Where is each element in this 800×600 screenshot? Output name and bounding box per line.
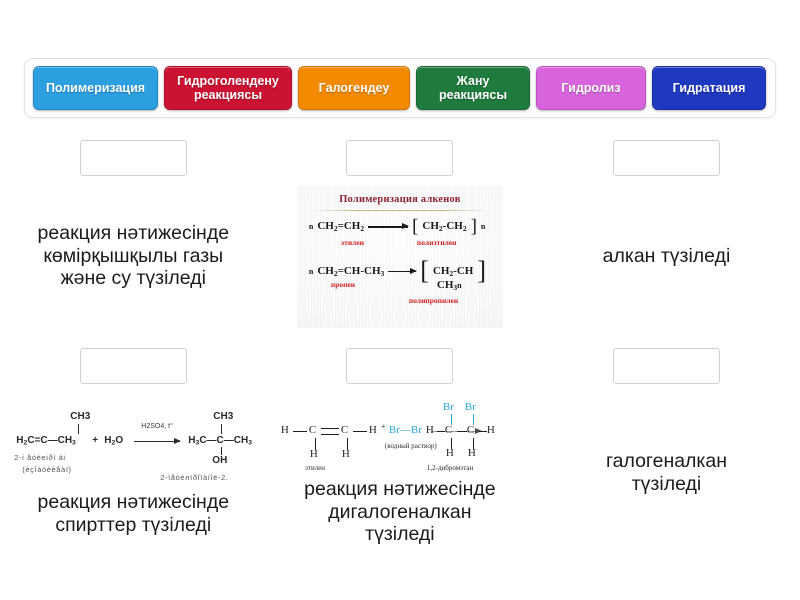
cell-content: CH3 H2C=C—CH3 + H2O H2SO4, t° CH3 H3C—C—… [0,384,267,560]
label-ethylene: этилен [305,464,325,472]
dropzone-2[interactable] [346,140,453,176]
figure-hydration-reaction: CH3 H2C=C—CH3 + H2O H2SO4, t° CH3 H3C—C—… [8,409,258,489]
atom-c: C [309,424,316,436]
atom-h: H [446,447,454,459]
polymer-index-n: n [481,222,485,231]
bracket-open-icon: [ [412,220,418,234]
bond-vertical-icon [473,414,474,425]
match-cell-haloalkane: галогеналкан түзіледі [533,334,800,560]
reaction-arrow-icon [134,441,180,442]
monomer-ethylene-formula: CH2=CH2 [317,220,364,233]
atom-h: H [487,424,495,436]
match-cell-alkane: алкан түзіледі [533,126,800,334]
tile-label: Гидролиз [561,81,620,95]
plus-sign-icon: + [92,435,98,446]
reactant-water: H2O [104,435,123,447]
atom-c: C [445,424,452,436]
product-branch-oh: OH [212,455,227,466]
dropzone-3[interactable] [613,140,720,176]
caption-reactant-line1: 2-і åóèеiðí àі [14,453,65,462]
match-cell-polymerization: Полимеризация алкенов n CH2=CH2 [ CH2-CH… [267,126,534,334]
draggable-tile-gidroliz[interactable]: Гидролиз [536,66,646,110]
reaction-arrow-icon [368,226,408,227]
item-text: реакция нәтижесінде спирттер түзіледі [38,491,230,537]
reaction-row-ethylene: n CH2=CH2 [ CH2-CH2 ] n [309,220,493,234]
reaction-condition: H2SO4, t° [141,423,173,430]
reagent-note: (водный раствор) [385,442,437,450]
tile-label: Гидроголендену реакциясы [174,74,282,102]
figure-title: Полимеризация алкенов [297,194,503,205]
figure-polymerization-alkenes: Полимеризация алкенов n CH2=CH2 [ CH2-CH… [297,186,503,328]
tile-label: Полимеризация [46,81,145,95]
atom-h: H [426,424,434,436]
reaction-arrow-icon [388,271,416,272]
label-polypropylene: полипропилен [409,296,458,305]
label-polyethylene: полиэтилен [417,238,457,247]
dropzone-1[interactable] [80,140,187,176]
monomer-propene-formula: CH2=CH-CH3 [317,265,384,278]
atom-br: Br [443,401,454,413]
caption-product: 2-ìåòèлïðîïàíîë-2. [160,473,228,482]
bracket-open-icon: [ [420,262,429,281]
match-cell-combustion: реакция нәтижесінде көмірқышқылы газы жә… [0,126,267,334]
polymer-polyethylene-formula: CH2-CH2 [422,220,466,233]
item-text: галогеналкан түзіледі [606,450,727,496]
draggable-tile-polimerizaciya[interactable]: Полимеризация [33,66,158,110]
item-text: реакция нәтижесінде көмірқышқылы газы жә… [38,222,230,290]
atom-h: H [342,448,350,460]
board-row: CH3 H2C=C—CH3 + H2O H2SO4, t° CH3 H3C—C—… [0,334,800,560]
plus-sign-icon: + [381,422,386,431]
dropzone-6[interactable] [613,348,720,384]
cell-content: галогеналкан түзіледі [533,384,800,560]
atom-h: H [369,424,377,436]
draggable-tile-zhanu[interactable]: Жану реакциясы [416,66,530,110]
reactant-branch-ch3: CH3 [70,411,90,422]
cell-content: реакция нәтижесінде көмірқышқылы газы жә… [0,176,267,334]
bond-horizontal-icon [479,431,487,432]
bond-horizontal-icon [353,431,367,432]
bond-horizontal-icon [457,431,467,432]
atom-h: H [468,447,476,459]
coefficient-n: n [309,267,313,276]
bond-vertical-icon [221,424,222,434]
bond-vertical-icon [451,414,452,425]
reaction-row-propene: n CH2=CH-CH3 [ CH2-CH ] [309,262,493,281]
draggable-tile-gidrogolendenu[interactable]: Гидроголендену реакциясы [164,66,292,110]
label-propene: пропен [331,280,355,289]
tile-label: Галогендеу [319,81,390,95]
match-up-activity: Полимеризация Гидроголендену реакциясы Г… [0,0,800,600]
figure-divider [311,210,489,211]
double-bond-icon [321,428,339,429]
reagent-bromine: Br—Br [389,424,422,436]
match-cell-halogenation: H C C H H H этилен + [267,334,534,560]
match-cell-hydration: CH3 H2C=C—CH3 + H2O H2SO4, t° CH3 H3C—C—… [0,334,267,560]
draggable-tile-gidrataciya[interactable]: Гидратация [652,66,766,110]
caption-reactant-line2: (èçîàóèèåàí) [22,465,71,474]
answer-tile-tray: Полимеризация Гидроголендену реакциясы Г… [24,58,776,118]
polypropylene-branch: CH3n [437,279,462,292]
atom-c: C [341,424,348,436]
board-row: реакция нәтижесінде көмірқышқылы газы жә… [0,126,800,334]
label-dibromoethane: 1,2-дибромэтан [427,464,473,472]
figure-halogenation-reaction: H C C H H H этилен + [281,400,519,476]
cell-content: алкан түзіледі [533,176,800,334]
reactant-isobutene: H2C=C—CH3 [16,435,76,447]
bond-horizontal-icon [293,431,307,432]
dropzone-4[interactable] [80,348,187,384]
match-board: реакция нәтижесінде көмірқышқылы газы жә… [0,126,800,596]
atom-c: C [467,424,474,436]
atom-br: Br [465,401,476,413]
bond-horizontal-icon [437,431,445,432]
bond-vertical-icon [221,447,222,455]
draggable-tile-galogendeu[interactable]: Галогендеу [298,66,410,110]
product-tert-butanol: H3C—C—CH3 [188,435,252,447]
double-bond-icon [321,434,339,435]
item-text: реакция нәтижесінде дигалогеналкан түзіл… [304,478,496,546]
tile-label: Жану реакциясы [426,74,520,102]
item-text: алкан түзіледі [603,245,731,268]
product-branch-ch3-top: CH3 [213,411,233,422]
coefficient-n: n [309,222,313,231]
bracket-close-icon: ] [471,220,477,234]
bracket-close-icon: ] [477,262,486,281]
cell-content: H C C H H H этилен + [267,384,534,560]
bond-vertical-icon [78,424,79,434]
dropzone-5[interactable] [346,348,453,384]
label-ethylene: этилен [341,238,364,247]
polymer-polypropylene-formula: CH2-CH [433,265,473,278]
cell-content: Полимеризация алкенов n CH2=CH2 [ CH2-CH… [267,176,534,334]
atom-h: H [281,424,289,436]
tile-label: Гидратация [673,81,746,95]
atom-h: H [310,448,318,460]
